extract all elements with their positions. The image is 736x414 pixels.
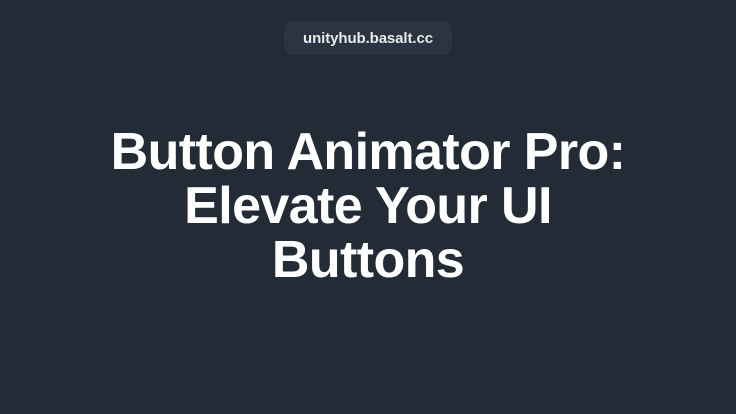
page-title-line-1: Button Animator Pro:: [48, 125, 688, 179]
source-badge[interactable]: unityhub.basalt.cc: [284, 21, 452, 55]
page-title: Button Animator Pro: Elevate Your UI But…: [48, 125, 688, 287]
source-badge-label: unityhub.basalt.cc: [303, 31, 433, 46]
page-title-line-2: Elevate Your UI: [48, 179, 688, 233]
title-slide: unityhub.basalt.cc Button Animator Pro: …: [0, 0, 736, 414]
badge-row: unityhub.basalt.cc: [0, 21, 736, 55]
page-title-line-3: Buttons: [48, 233, 688, 287]
headline-block: Button Animator Pro: Elevate Your UI But…: [48, 125, 688, 287]
